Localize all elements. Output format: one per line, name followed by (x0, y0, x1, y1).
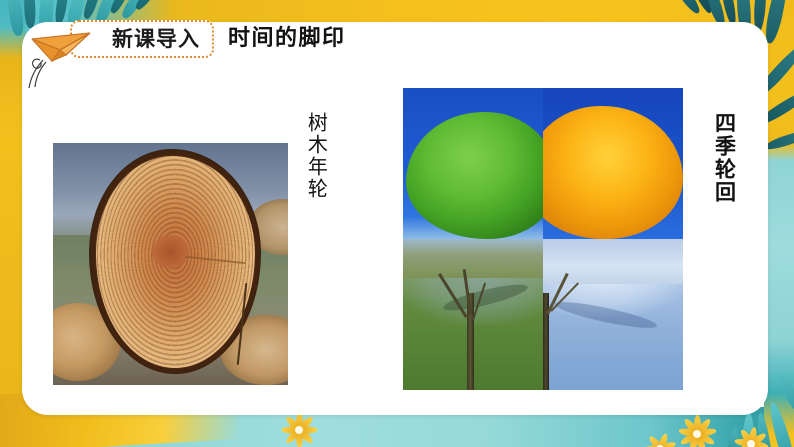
daisy-flower-icon (674, 411, 720, 447)
swirl-doodle-icon (26, 54, 66, 94)
season-quadrant-summer (403, 239, 543, 390)
page-title: 时间的脚印 (228, 28, 346, 50)
figure-caption-four-seasons: 四季轮回 (712, 112, 736, 204)
figure-four-seasons (403, 88, 683, 390)
daisy-flower-icon (732, 425, 770, 447)
figure-tree-rings (53, 143, 288, 385)
daisy-flower-icon (644, 433, 676, 447)
season-quadrant-spring (403, 88, 543, 239)
season-quadrant-autumn (543, 88, 683, 239)
figure-caption-tree-rings: 树木年轮 (305, 112, 327, 200)
section-tag-label: 新课导入 (112, 29, 200, 50)
slide-canvas: 新课导入 时间的脚印 树木年轮 (0, 0, 794, 447)
season-quadrant-winter (543, 239, 683, 390)
